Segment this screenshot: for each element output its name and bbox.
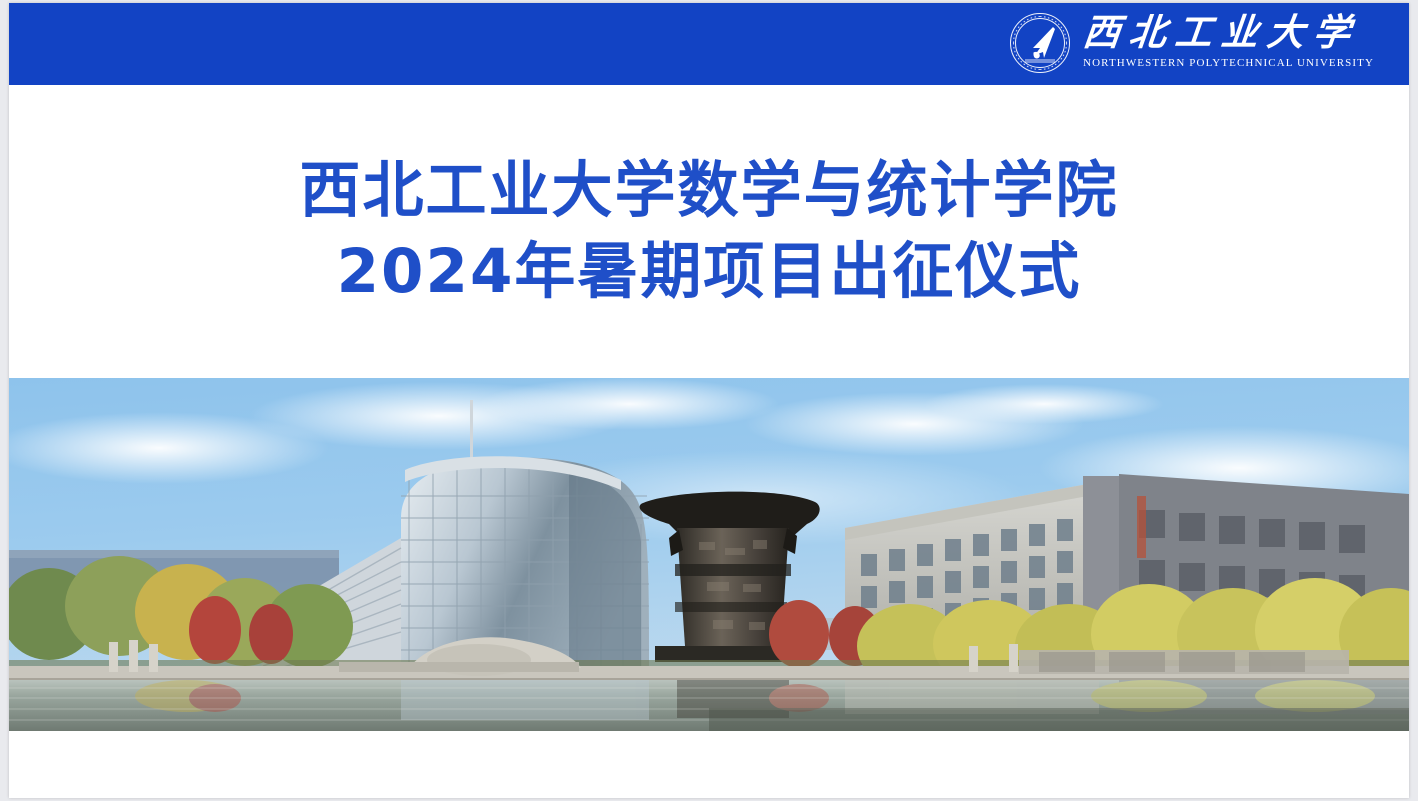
brand-wordmark: 西北工业大学 NORTHWESTERN POLYTECHNICAL UNIVER… <box>1083 15 1374 70</box>
title-line-1: 西北工业大学数学与统计学院 <box>299 151 1118 232</box>
brand-chinese-name: 西北工业大学 <box>1081 15 1361 54</box>
slide-root: 西北工业大学 NORTHWESTERN POLYTECHNICAL UNIVER… <box>0 0 1418 801</box>
npu-university-seal-emblem <box>1009 12 1071 74</box>
slide-canvas: 西北工业大学 NORTHWESTERN POLYTECHNICAL UNIVER… <box>9 3 1409 798</box>
header-bar: 西北工业大学 NORTHWESTERN POLYTECHNICAL UNIVER… <box>9 3 1409 85</box>
slide-title-block: 西北工业大学数学与统计学院 2024年暑期项目出征仪式 <box>9 85 1409 378</box>
slide-footer-space <box>9 731 1409 798</box>
npu-campus-panorama <box>9 378 1409 731</box>
title-line-2: 2024年暑期项目出征仪式 <box>337 232 1082 313</box>
brand-english-name: NORTHWESTERN POLYTECHNICAL UNIVERSITY <box>1083 57 1374 70</box>
university-brand-lockup: 西北工业大学 NORTHWESTERN POLYTECHNICAL UNIVER… <box>1009 12 1374 74</box>
